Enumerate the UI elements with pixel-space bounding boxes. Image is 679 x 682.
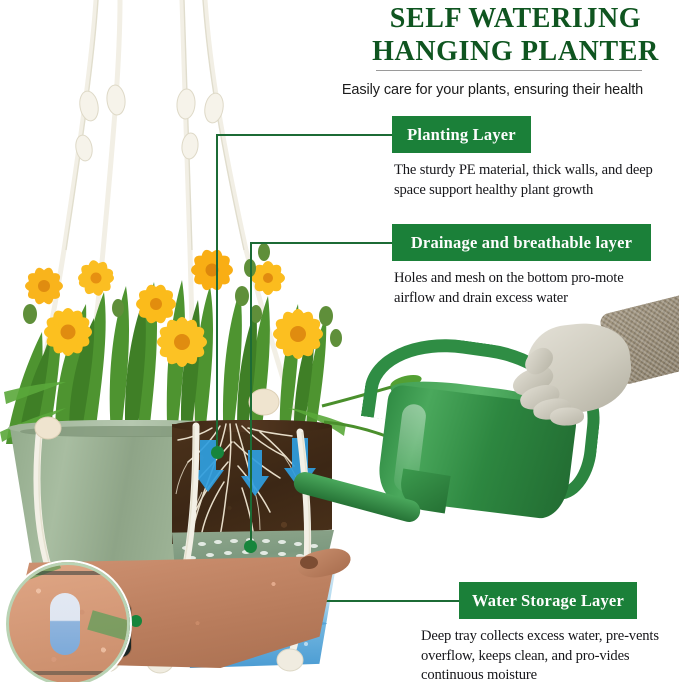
- water-level-indicator-magnifier: [6, 562, 130, 682]
- page-subtitle: Easily care for your plants, ensuring th…: [306, 82, 679, 98]
- marker-dot-drainage-layer: [244, 540, 257, 553]
- callout-label-drainage-breathable-layer: Drainage and breathable layer: [392, 224, 651, 261]
- callout-description-planting-layer: The sturdy PE material, thick walls, and…: [394, 161, 666, 200]
- page-title-line2: HANGING PLANTER: [352, 35, 679, 68]
- callout-label-planting-layer: Planting Layer: [392, 116, 531, 153]
- marker-dot-planting-layer: [211, 446, 224, 459]
- connector-line-planting-vertical: [216, 134, 218, 452]
- inset-top-band: [9, 571, 127, 575]
- watering-can-with-gloved-hand: [338, 300, 679, 570]
- product-infographic: SELF WATERIJNG HANGING PLANTER Easily ca…: [0, 0, 679, 682]
- gardening-glove: [523, 319, 636, 417]
- inset-bottom-band: [9, 671, 127, 675]
- indicator-float-pill: [50, 593, 80, 655]
- connector-line-planting-horizontal: [216, 134, 393, 136]
- page-title-line1: SELF WATERIJNG: [352, 2, 679, 35]
- connector-line-drainage-vertical: [250, 242, 252, 546]
- yellow-flowers: [6, 238, 346, 378]
- callout-label-water-storage-layer: Water Storage Layer: [459, 582, 637, 619]
- title-divider: [376, 70, 642, 71]
- overflow-spout-opening: [300, 556, 318, 569]
- callout-description-water-storage-layer: Deep tray collects excess water, pre-ven…: [421, 627, 671, 682]
- page-title: SELF WATERIJNG HANGING PLANTER: [352, 2, 679, 68]
- connector-line-drainage-horizontal: [250, 242, 393, 244]
